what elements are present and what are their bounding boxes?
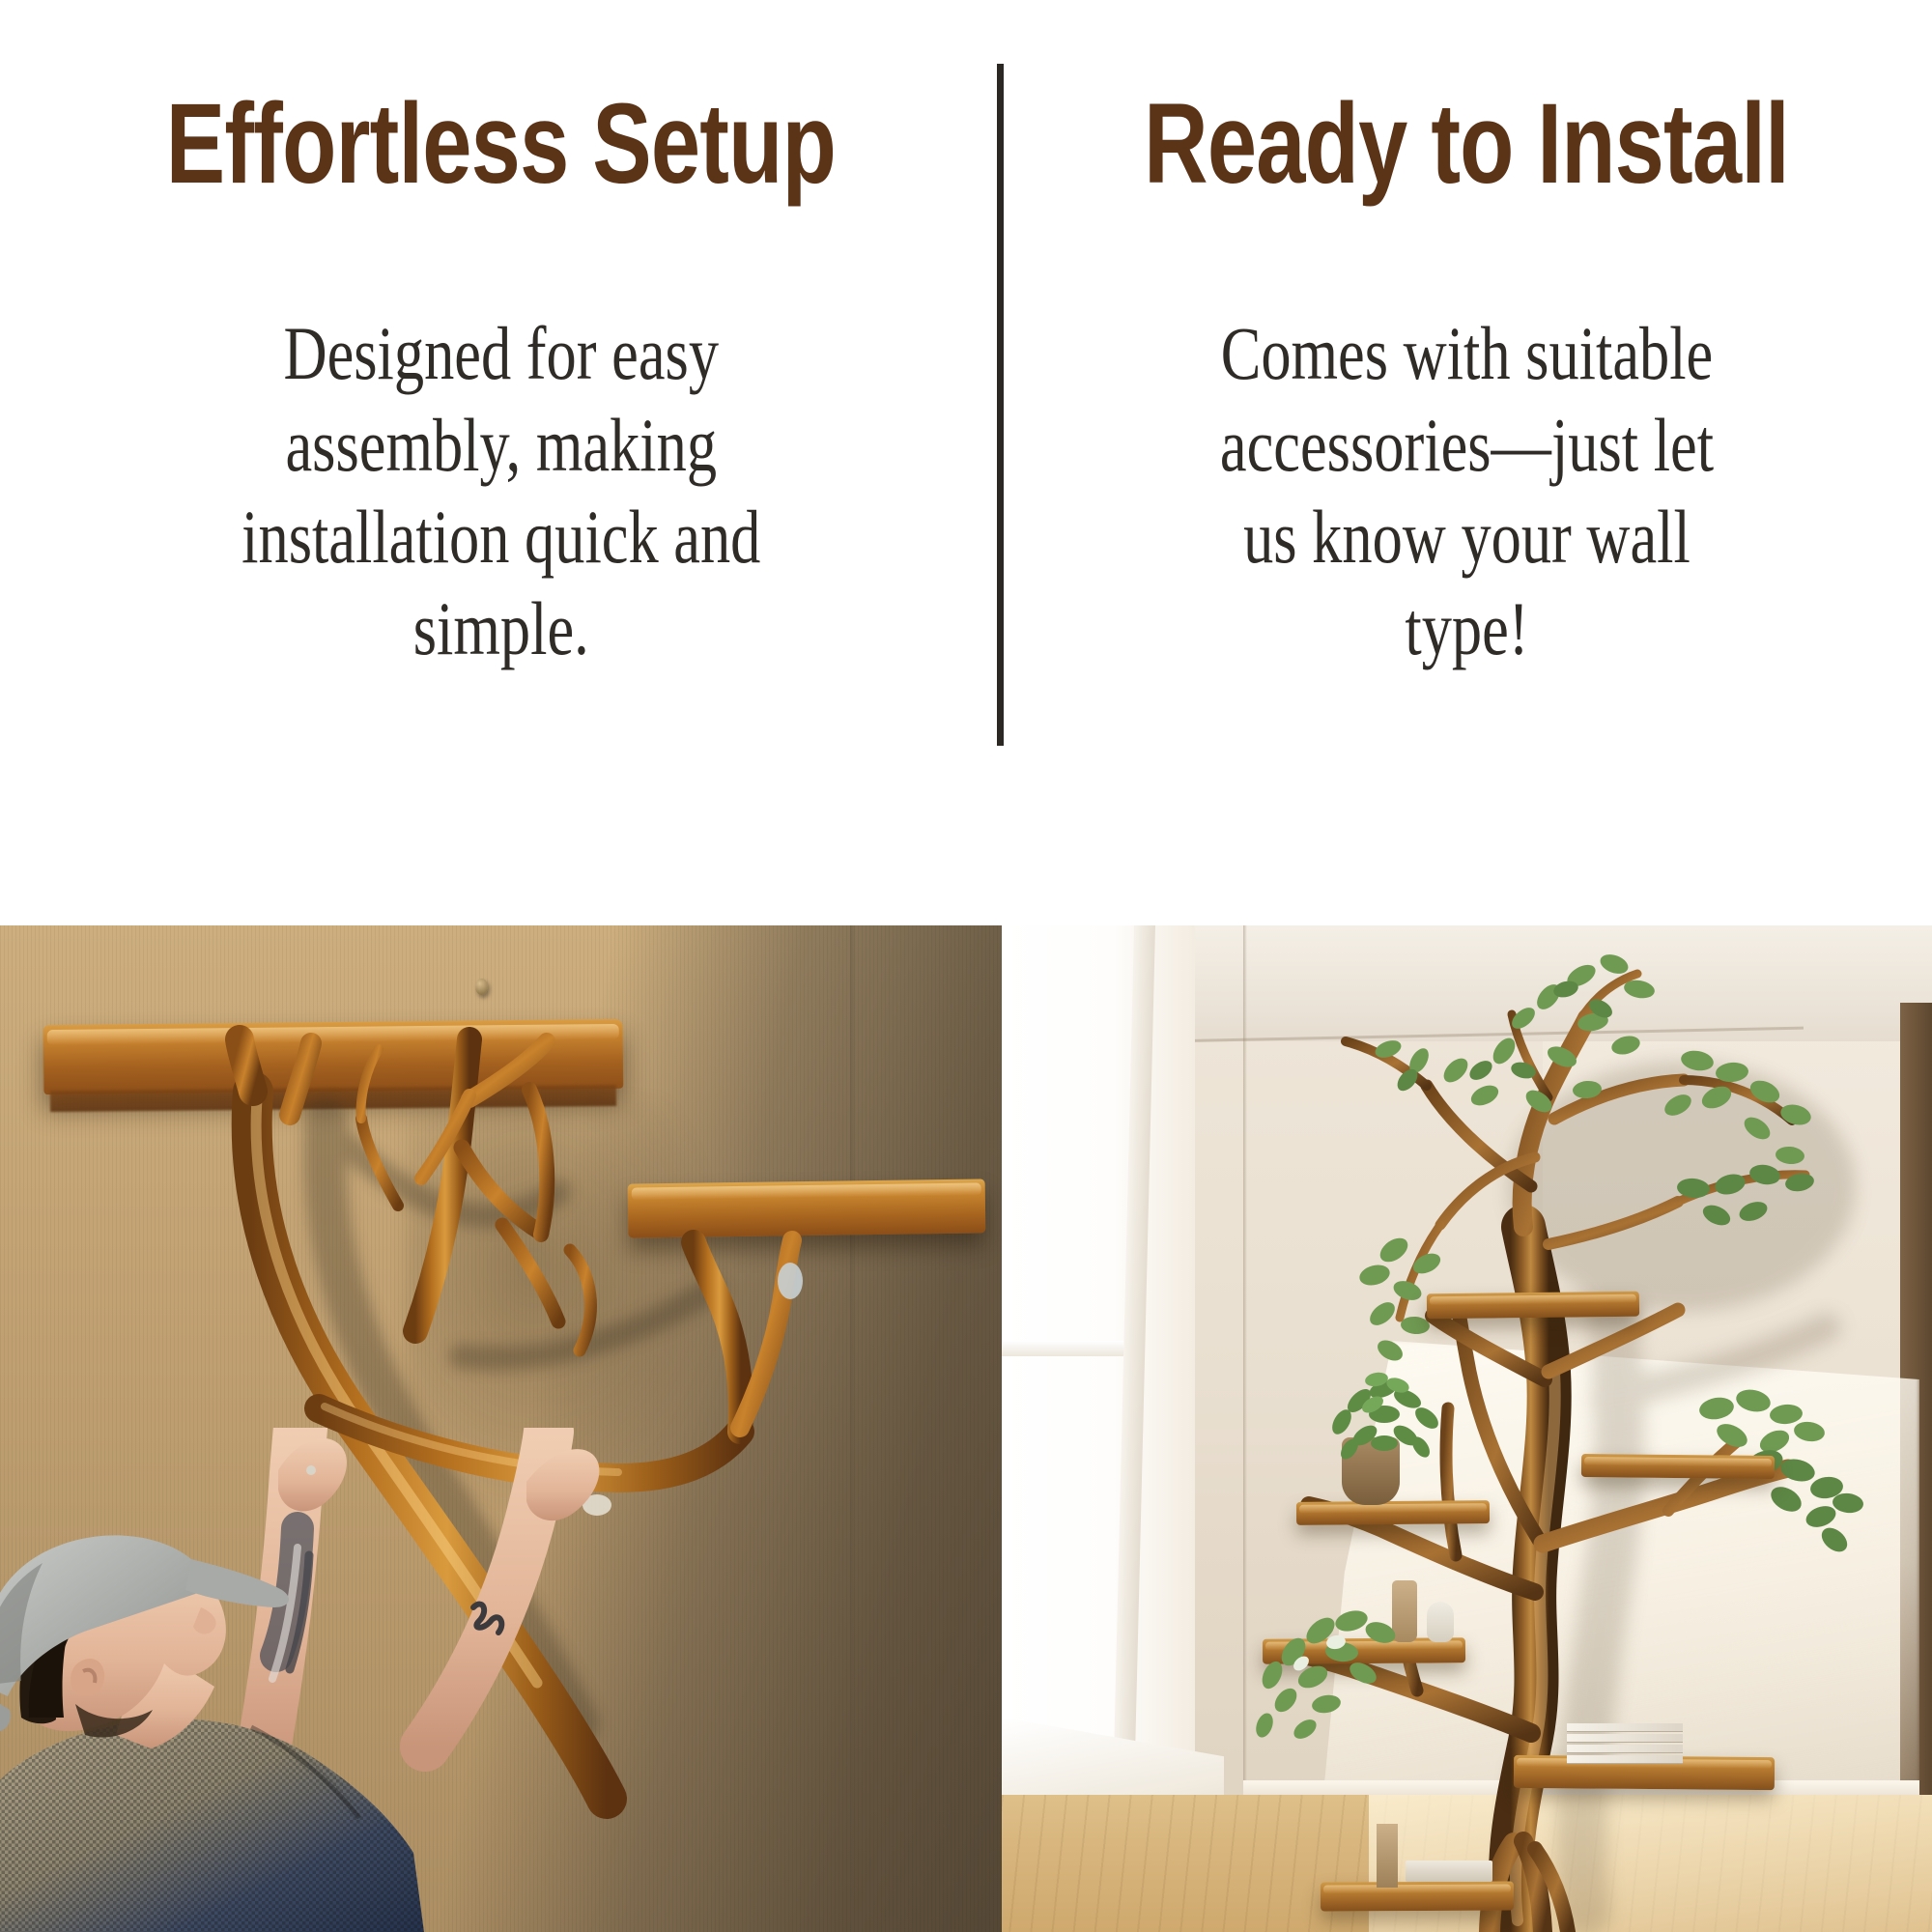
- left-body-text: Designed for easy assembly, making insta…: [241, 307, 760, 675]
- photo-finished-installation: [1002, 925, 1932, 1932]
- stacked-books: [1567, 1723, 1683, 1758]
- left-heading-wrap: Effortless Setup: [0, 87, 1002, 201]
- potted-fern: [1292, 1350, 1475, 1476]
- column-divider: [997, 64, 1004, 746]
- feature-column-right: Ready to Install Comes with suitable acc…: [1002, 0, 1932, 869]
- right-heading-wrap: Ready to Install: [1002, 87, 1932, 201]
- left-heading: Effortless Setup: [166, 87, 836, 201]
- lower-books: [1406, 1861, 1492, 1882]
- installer-person: [0, 1428, 705, 1932]
- feature-text-section: Effortless Setup Designed for easy assem…: [0, 0, 1932, 869]
- photo-section: [0, 925, 1932, 1932]
- floor-vase: [1377, 1824, 1398, 1888]
- left-body-wrap: Designed for easy assembly, making insta…: [0, 307, 1002, 675]
- tree-shelf-6: [1321, 1881, 1514, 1911]
- right-heading: Ready to Install: [1145, 87, 1790, 201]
- tree-shelf-2: [1581, 1454, 1775, 1479]
- right-body-text: Comes with suitable accessories—just let…: [1220, 307, 1714, 675]
- feature-column-left: Effortless Setup Designed for easy assem…: [0, 0, 1002, 869]
- right-body-wrap: Comes with suitable accessories—just let…: [1002, 307, 1932, 675]
- tree-shelf-1: [1427, 1292, 1639, 1320]
- trailing-plant: [1226, 1592, 1438, 1756]
- tree-shelf-3: [1296, 1500, 1490, 1525]
- product-feature-panel: Effortless Setup Designed for easy assem…: [0, 0, 1932, 1932]
- photo-installation-in-progress: [0, 925, 1002, 1932]
